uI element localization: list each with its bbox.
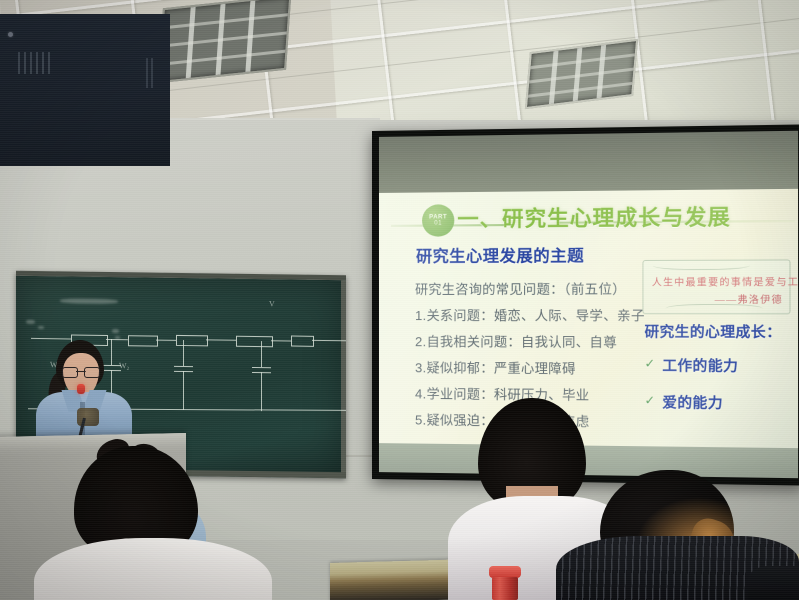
right-column-heading: 研究生的心理成长： (645, 321, 799, 342)
audience-member-far-right-shoulder (748, 566, 799, 600)
chalk-resistor-4 (236, 336, 273, 348)
check-icon: ✓ (645, 393, 656, 407)
quote-text: 人生中最重要的事情是爱与工作。 (652, 274, 784, 289)
monitor-rear (0, 14, 170, 166)
monitor-indicator-dot (8, 32, 13, 37)
presenter-name-badge (77, 408, 99, 426)
part-badge: PART 01 (422, 204, 454, 236)
water-bottle-body (492, 577, 518, 600)
list-item: ✓ 工作的能力 (645, 355, 799, 376)
chalk-resistor-2 (128, 335, 158, 346)
right-column-item-label: 爱的能力 (662, 394, 723, 411)
list-item: 2.自我相关问题：自我认同、自尊 (415, 331, 672, 351)
blackboard-frame-right (341, 280, 346, 478)
slide-right-column: 研究生的心理成长： ✓ 工作的能力 ✓ 爱的能力 (645, 321, 799, 430)
chalk-resistor-5 (291, 336, 314, 347)
bullet-lead: 研究生咨询的常见问题：（前五位） (415, 278, 672, 298)
quote-callout-box: 人生中最重要的事情是爱与工作。 ——弗洛伊德 (642, 259, 790, 314)
chalk-resistor-3 (176, 335, 208, 346)
slide-title: 一、研究生心理成长与发展 (457, 201, 730, 234)
check-icon: ✓ (645, 356, 656, 370)
list-item: 1.关系问题：婚恋、人际、导学、亲子 (415, 305, 672, 324)
list-item: 3.疑似抑郁：严重心理障碍 (415, 357, 672, 378)
slide-subtitle: 研究生心理发展的主题 (416, 242, 584, 267)
quote-attribution: ——弗洛伊德 (715, 292, 783, 307)
quote-box-fold-top (653, 259, 750, 271)
ceiling-light-fixture-left (158, 0, 292, 83)
screen-unlit-top-band (379, 131, 798, 195)
projection-screen-surface: PART 01 一、研究生心理成长与发展 研究生心理发展的主题 研究生咨询的常见… (379, 131, 798, 478)
microphone-icon (77, 384, 85, 394)
blackboard-label-v: V (269, 299, 275, 308)
projection-screen: PART 01 一、研究生心理成长与发展 研究生心理发展的主题 研究生咨询的常见… (372, 124, 799, 485)
podium-top-edge (0, 433, 186, 451)
right-column-item-label: 工作的能力 (662, 357, 738, 374)
list-item: ✓ 爱的能力 (645, 392, 799, 414)
part-badge-line2: 01 (434, 220, 442, 226)
water-bottle (489, 566, 521, 600)
lecture-room-photo: W₁ W₂ V PART 01 一、研究生心理成长与发展 研究生心理发展的主题 … (0, 0, 799, 600)
presentation-slide: PART 01 一、研究生心理成长与发展 研究生心理发展的主题 研究生咨询的常见… (379, 189, 798, 448)
glasses-icon (62, 367, 100, 376)
